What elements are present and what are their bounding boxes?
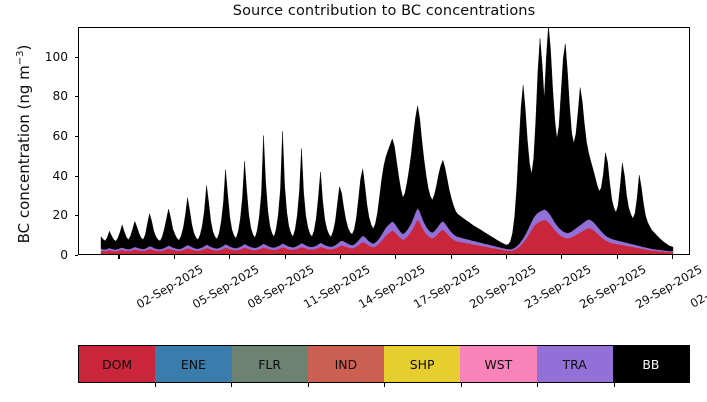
legend-label-tra: TRA <box>563 357 587 372</box>
x-axis-tick-mark <box>395 255 396 259</box>
x-axis-tick-mark <box>617 255 618 259</box>
legend-label-dom: DOM <box>102 357 132 372</box>
y-axis-label-base: BC concentration (ng m <box>15 65 33 243</box>
colorbar-tick <box>461 383 462 387</box>
area-series-bb <box>101 28 673 251</box>
legend-label-flr: FLR <box>258 357 281 372</box>
y-axis-label: BC concentration (ng m−3) <box>15 24 33 264</box>
chart-title: Source contribution to BC concentrations <box>78 3 690 19</box>
legend-cell-flr[interactable]: FLR <box>232 346 308 382</box>
x-axis-tick-mark <box>285 255 286 259</box>
colorbar-tick <box>614 383 615 387</box>
stacked-area-plot <box>79 28 689 254</box>
y-axis-label-tail: ) <box>15 45 33 51</box>
y-axis-tick-label: 40 <box>34 169 68 183</box>
x-axis-tick-mark <box>340 255 341 259</box>
y-axis-label-exponent: −3 <box>15 50 26 65</box>
colorbar-tick <box>537 383 538 387</box>
y-axis-tick-label: 100 <box>34 50 68 64</box>
y-axis-tick-mark <box>75 255 79 256</box>
colorbar-tick <box>384 383 385 387</box>
figure-canvas: Source contribution to BC concentrations… <box>0 0 707 402</box>
legend-label-shp: SHP <box>410 357 435 372</box>
y-axis-tick-label: 80 <box>34 89 68 103</box>
source-category-legend[interactable]: DOMENEFLRINDSHPWSTTRABB <box>78 345 690 383</box>
colorbar-tick <box>308 383 309 387</box>
x-axis-tick-mark <box>672 255 673 259</box>
legend-cell-ind[interactable]: IND <box>308 346 384 382</box>
y-axis-tick-label: 20 <box>34 208 68 222</box>
plot-axes <box>78 27 690 255</box>
x-axis-tick-mark <box>229 255 230 259</box>
x-axis-tick-mark <box>118 255 119 259</box>
legend-cell-bb[interactable]: BB <box>613 346 689 382</box>
y-axis-tick-label: 60 <box>34 129 68 143</box>
legend-cell-wst[interactable]: WST <box>460 346 536 382</box>
x-axis-tick-mark <box>174 255 175 259</box>
legend-cell-shp[interactable]: SHP <box>384 346 460 382</box>
legend-cell-ene[interactable]: ENE <box>155 346 231 382</box>
legend-label-ind: IND <box>335 357 357 372</box>
legend-label-ene: ENE <box>181 357 206 372</box>
y-axis-tick-label: 0 <box>34 248 68 262</box>
legend-cell-dom[interactable]: DOM <box>79 346 155 382</box>
x-axis-tick-mark <box>561 255 562 259</box>
x-axis-tick-mark <box>451 255 452 259</box>
colorbar-tick <box>155 383 156 387</box>
legend-label-wst: WST <box>485 357 513 372</box>
legend-cell-tra[interactable]: TRA <box>537 346 613 382</box>
legend-label-bb: BB <box>642 357 659 372</box>
x-axis-tick-mark <box>506 255 507 259</box>
colorbar-tick <box>231 383 232 387</box>
